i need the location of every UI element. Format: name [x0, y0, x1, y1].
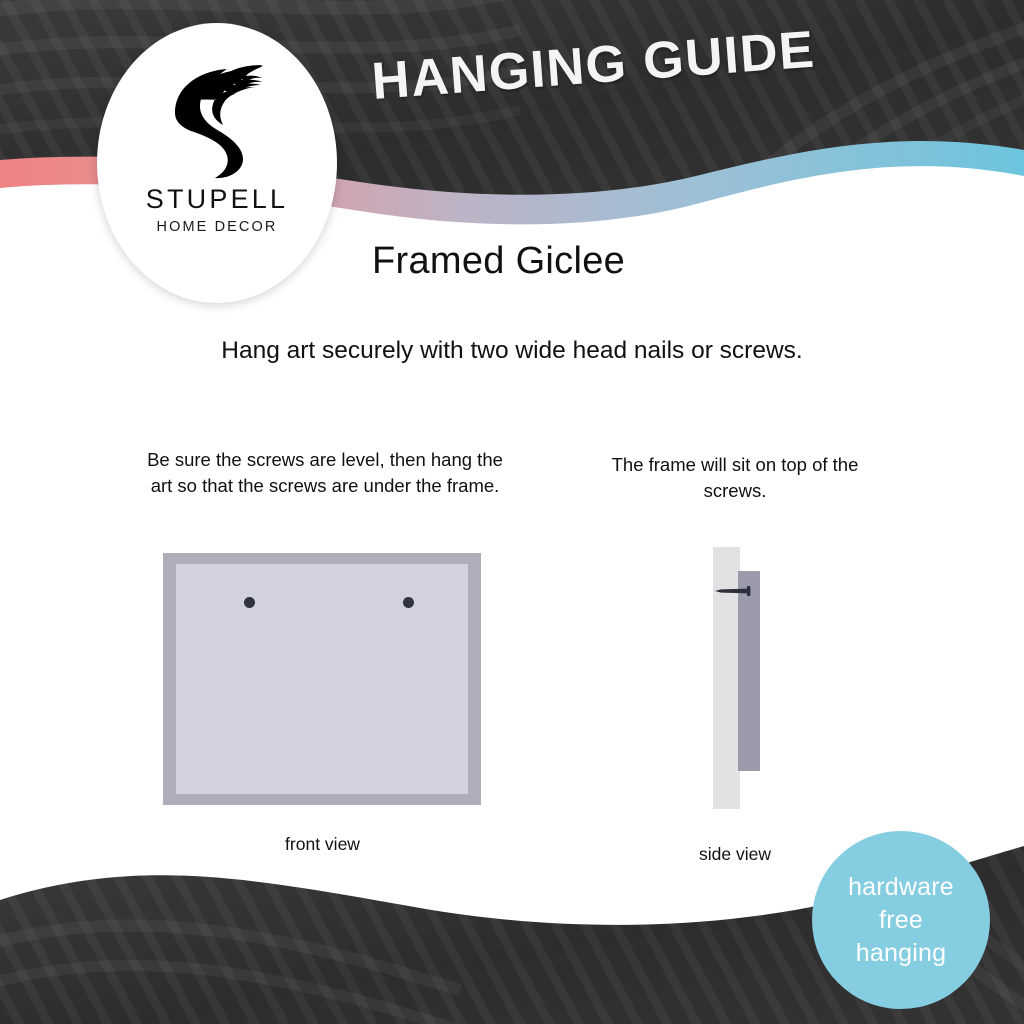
- front-view-caption: Be sure the screws are level, then hang …: [140, 447, 510, 499]
- stupell-swoosh-icon: [157, 55, 277, 180]
- stupell-logo-badge: STUPELL HOME DECOR: [97, 23, 337, 303]
- front-view-diagram: [163, 553, 481, 805]
- badge-line-1: hardware: [848, 871, 954, 904]
- main-instruction-text: Hang art securely with two wide head nai…: [0, 337, 1024, 365]
- screw-dot-right: [403, 597, 414, 608]
- side-view-label: side view: [640, 844, 830, 865]
- badge-line-3: hanging: [856, 937, 946, 970]
- screw-dot-left: [244, 597, 255, 608]
- front-view-label: front view: [175, 834, 470, 855]
- logo-wordmark: STUPELL: [146, 186, 288, 213]
- product-type-label: Framed Giclee: [372, 240, 625, 283]
- badge-line-2: free: [879, 904, 923, 937]
- page-title: HANGING GUIDE: [370, 20, 817, 112]
- hardware-free-hanging-badge: hardware free hanging: [812, 831, 990, 1009]
- side-view-frame: [738, 571, 760, 771]
- side-view-diagram: [705, 547, 785, 809]
- logo-subwordmark: HOME DECOR: [157, 220, 278, 235]
- hanging-guide-page: STUPELL HOME DECOR HANGING GUIDE Framed …: [0, 0, 1024, 1024]
- side-view-caption: The frame will sit on top of the screws.: [600, 452, 870, 504]
- front-view-mat: [176, 564, 468, 794]
- nail-icon: [715, 586, 757, 596]
